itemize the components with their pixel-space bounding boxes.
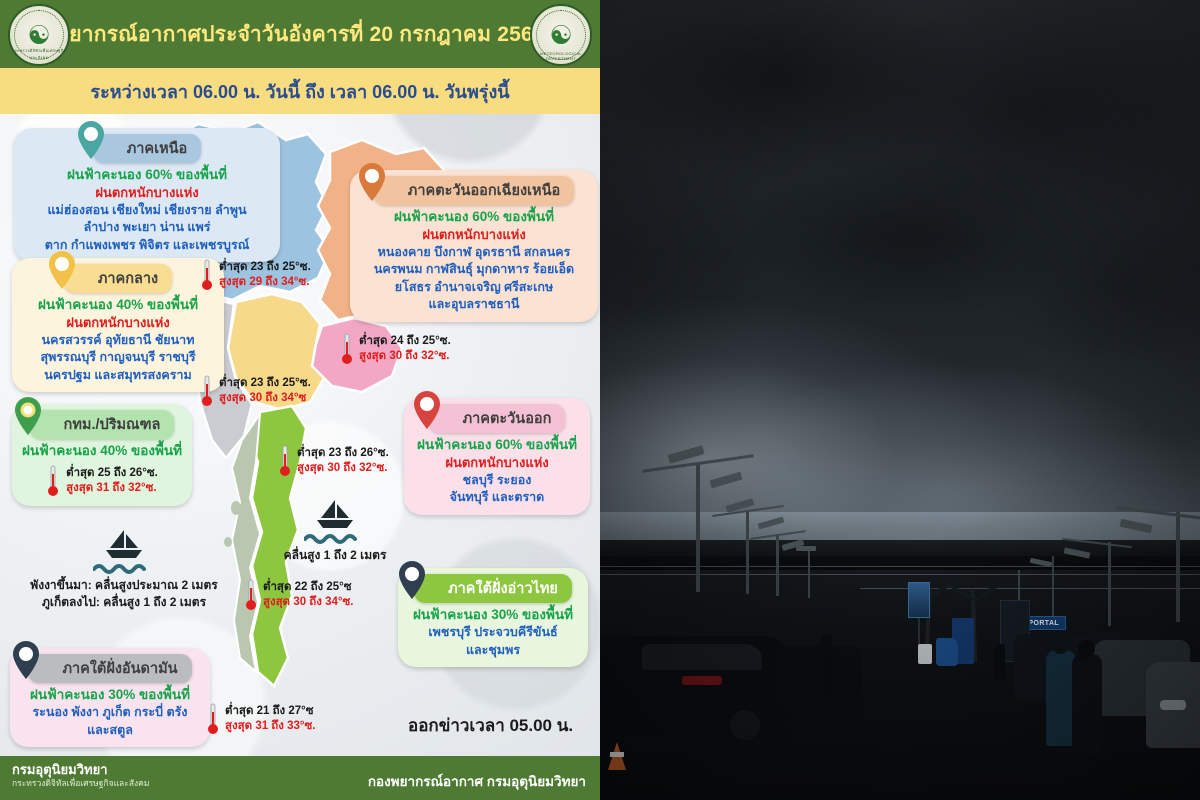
weather-forecast-infographic: ☯ กระทรวงดิจิทัลเพื่อเศรษฐกิจและสังคม พย… bbox=[0, 0, 600, 800]
blue-tarp bbox=[936, 638, 958, 666]
bangkok-temperature: ต่ำสุด 25 ถึง 26°ซ. สูงสุด 31 ถึง 32°ซ. bbox=[66, 466, 158, 496]
storm-photo: THE PORTAL bbox=[600, 0, 1200, 800]
temp-min: ต่ำสุด 23 ถึง 26°ซ. bbox=[297, 446, 389, 461]
car-wheel bbox=[730, 710, 760, 740]
thermometer-icon bbox=[200, 374, 214, 408]
region-percent: ฝนฟ้าคะนอง 40% ของพื้นที่ bbox=[22, 442, 182, 460]
thermometer-icon bbox=[206, 702, 220, 736]
region-title: ภาคใต้ฝั่งอันดามัน bbox=[62, 661, 177, 677]
tmd-seal-caption: METEOROLOGICAL DEPARTMENT bbox=[532, 51, 590, 61]
palm-tree-fronds bbox=[942, 578, 1008, 610]
seal-glyph: ☯ bbox=[549, 22, 572, 48]
region-provinces-line: ชลบุรี ระยอง bbox=[414, 472, 580, 490]
street-lamp-pole bbox=[1176, 512, 1180, 622]
region-card-gulf[interactable]: ภาคใต้ฝั่งอ่าวไทย ฝนฟ้าคะนอง 30% ของพื้น… bbox=[398, 568, 588, 667]
region-percent: ฝนฟ้าคะนอง 60% ของพื้นที่ bbox=[360, 208, 588, 226]
tmd-seal-icon: ☯ METEOROLOGICAL DEPARTMENT bbox=[530, 4, 592, 66]
street-lamp-pole bbox=[746, 510, 749, 594]
footer-department: กองพยากรณ์อากาศ กรมอุตุนิยมวิทยา bbox=[368, 770, 586, 792]
region-card-north[interactable]: ภาคเหนือ ฝนฟ้าคะนอง 60% ของพื้นที่ ฝนตกห… bbox=[14, 128, 280, 262]
temp-min: ต่ำสุด 25 ถึง 26°ซ. bbox=[66, 466, 158, 481]
region-card-northeast[interactable]: ภาคตะวันออกเฉียงเหนือ ฝนฟ้าคะนอง 60% ของ… bbox=[350, 170, 598, 322]
page-title: พยากรณ์อากาศประจำวันอังคารที่ 20 กรกฎาคม… bbox=[55, 18, 545, 51]
car-window bbox=[642, 644, 762, 670]
temp-max: สูงสุด 30 ถึง 34°ซ. bbox=[263, 595, 353, 610]
temp-max: สูงสุด 31 ถึง 33°ซ. bbox=[225, 719, 315, 734]
sea-condition-line: พังงาขึ้นมา: คลื่นสูงประมาณ 2 เมตร bbox=[4, 577, 244, 594]
region-provinces-line: นครปฐม และสมุทรสงคราม bbox=[22, 367, 214, 385]
temp-min: ต่ำสุด 24 ถึง 25°ซ. bbox=[359, 334, 451, 349]
region-provinces-line: นครพนม กาฬสินธุ์ มุกดาหาร ร้อยเอ็ด bbox=[360, 261, 588, 279]
subtitle-band: ระหว่างเวลา 06.00 น. วันนี้ ถึง เวลา 06.… bbox=[0, 68, 600, 114]
billboard bbox=[908, 582, 930, 618]
sailboat-icon bbox=[102, 528, 146, 562]
sea-condition-gulf: คลื่นสูง 1 ถึง 2 เมตร bbox=[250, 498, 420, 564]
region-percent: ฝนฟ้าคะนอง 30% ของพื้นที่ bbox=[408, 606, 578, 624]
map-pin-icon bbox=[14, 397, 42, 435]
region-tab-northeast: ภาคตะวันออกเฉียงเหนือ bbox=[374, 176, 574, 205]
thermometer-icon bbox=[244, 578, 258, 612]
seal-glyph: ☯ bbox=[27, 22, 50, 48]
map-pin-icon bbox=[358, 163, 386, 201]
footer-left-group: กรมอุตุนิยมวิทยา กระทรวงดิจิทัลเพื่อเศรษ… bbox=[12, 762, 149, 789]
temp-max: สูงสุด 30 ถึง 32°ซ. bbox=[359, 349, 451, 364]
street-lamp-pole bbox=[1052, 556, 1054, 618]
thermometer-icon bbox=[340, 332, 354, 366]
person-head bbox=[1052, 636, 1069, 654]
region-heavy-rain: ฝนตกหนักบางแห่ง bbox=[414, 454, 580, 472]
region-provinces-line: จันทบุรี และตราด bbox=[414, 489, 580, 507]
region-card-andaman[interactable]: ภาคใต้ฝั่งอันดามัน ฝนฟ้าคะนอง 30% ของพื้… bbox=[10, 648, 210, 747]
region-provinces-line: เพชรบุรี ประจวบคีรีขันธ์ bbox=[408, 624, 578, 642]
car-headlight bbox=[1160, 700, 1186, 710]
map-pin-icon bbox=[398, 561, 426, 599]
region-heavy-rain: ฝนตกหนักบางแห่ง bbox=[360, 226, 588, 244]
region-provinces-line: ลำปาง พะเยา น่าน แพร่ bbox=[24, 219, 270, 237]
person-head bbox=[1078, 640, 1095, 658]
cloud-mass bbox=[600, 0, 1200, 560]
temp-min: ต่ำสุด 23 ถึง 25°ซ. bbox=[219, 260, 311, 275]
screenshot-root: ☯ กระทรวงดิจิทัลเพื่อเศรษฐกิจและสังคม พย… bbox=[0, 0, 1200, 800]
temp-max: สูงสุด 29 ถึง 34°ซ. bbox=[219, 275, 311, 290]
region-provinces-line: แม่ฮ่องสอน เชียงใหม่ เชียงราย ลำพูน bbox=[24, 202, 270, 220]
region-tab-gulf: ภาคใต้ฝั่งอ่าวไทย bbox=[414, 574, 572, 603]
map-island-1 bbox=[231, 501, 241, 515]
thermometer-icon bbox=[278, 444, 292, 478]
region-title: ภาคตะวันออกเฉียงเหนือ bbox=[408, 183, 560, 199]
temperature-east: ต่ำสุด 23 ถึง 26°ซ. สูงสุด 30 ถึง 32°ซ. bbox=[278, 444, 389, 478]
ministry-seal-icon: ☯ กระทรวงดิจิทัลเพื่อเศรษฐกิจและสังคม bbox=[8, 4, 70, 66]
temp-min: ต่ำสุด 22 ถึง 25°ซ bbox=[263, 580, 353, 595]
region-percent: ฝนฟ้าคะนอง 40% ของพื้นที่ bbox=[22, 296, 214, 314]
sea-condition-andaman: พังงาขึ้นมา: คลื่นสูงประมาณ 2 เมตร ภูเก็… bbox=[4, 528, 244, 612]
map-pin-icon bbox=[413, 391, 441, 429]
region-percent: ฝนฟ้าคะนอง 60% ของพื้นที่ bbox=[24, 166, 270, 184]
region-provinces-line: สุพรรณบุรี กาญจนบุรี ราชบุรี bbox=[22, 349, 214, 367]
map-pin-icon bbox=[77, 121, 105, 159]
map-pin-icon bbox=[12, 641, 40, 679]
person-silhouette bbox=[818, 642, 834, 702]
region-card-central[interactable]: ภาคกลาง ฝนฟ้าคะนอง 40% ของพื้นที่ ฝนตกหน… bbox=[12, 258, 224, 392]
wave-icon bbox=[304, 532, 366, 544]
thermometer-icon bbox=[200, 258, 214, 292]
temp-max: สูงสุด 31 ถึง 32°ซ. bbox=[66, 481, 158, 496]
region-provinces-line: หนองคาย บึงกาฬ อุดรธานี สกลนคร bbox=[360, 244, 588, 262]
region-provinces-line: และสตูล bbox=[20, 722, 200, 740]
footer-ministry: กระทรวงดิจิทัลเพื่อเศรษฐกิจและสังคม bbox=[12, 778, 149, 789]
street-lamp-pole bbox=[808, 548, 810, 598]
sailboat-icon bbox=[313, 498, 357, 532]
footer-organization: กรมอุตุนิยมวิทยา bbox=[12, 762, 149, 778]
map-pin-icon bbox=[48, 251, 76, 289]
region-percent: ฝนฟ้าคะนอง 30% ของพื้นที่ bbox=[20, 686, 200, 704]
region-heavy-rain: ฝนตกหนักบางแห่ง bbox=[22, 314, 214, 332]
temperature-northeast: ต่ำสุด 24 ถึง 25°ซ. สูงสุด 30 ถึง 32°ซ. bbox=[340, 332, 451, 366]
release-time: ออกข่าวเวลา 05.00 น. bbox=[408, 712, 573, 739]
region-provinces-line: ระนอง พังงา ภูเก็ต กระบี่ ตรัง bbox=[20, 704, 200, 722]
region-tab-central: ภาคกลาง bbox=[64, 264, 172, 293]
temperature-gulf: ต่ำสุด 22 ถึง 25°ซ สูงสุด 30 ถึง 34°ซ. bbox=[244, 578, 353, 612]
storm-sky bbox=[600, 0, 1200, 560]
region-title: ภาคตะวันออก bbox=[463, 411, 552, 427]
person-silhouette bbox=[1072, 654, 1102, 754]
wave-icon bbox=[93, 562, 155, 574]
region-provinces-line: และอุบลราชธานี bbox=[360, 296, 588, 314]
forecast-period-text: ระหว่างเวลา 06.00 น. วันนี้ ถึง เวลา 06.… bbox=[90, 77, 509, 106]
region-percent: ฝนฟ้าคะนอง 60% ของพื้นที่ bbox=[414, 436, 580, 454]
sea-condition-line: ภูเก็ตลงไป: คลื่นสูง 1 ถึง 2 เมตร bbox=[4, 594, 244, 611]
white-plastic-chair bbox=[918, 644, 932, 664]
traffic-cone-band bbox=[610, 752, 624, 757]
street-lamp-pole bbox=[776, 534, 779, 596]
thermometer-icon bbox=[46, 464, 60, 498]
person-head bbox=[821, 634, 832, 646]
person-silhouette bbox=[994, 644, 1005, 682]
ministry-seal-caption: กระทรวงดิจิทัลเพื่อเศรษฐกิจและสังคม bbox=[10, 47, 68, 61]
region-tab-east: ภาคตะวันออก bbox=[429, 404, 566, 433]
temp-min: ต่ำสุด 21 ถึง 27°ซ bbox=[225, 704, 315, 719]
billboard-post bbox=[918, 618, 920, 644]
region-card-bangkok[interactable]: กทม./ปริมณฑล ฝนฟ้าคะนอง 40% ของพื้นที่ ต… bbox=[12, 404, 192, 506]
region-title: ภาคกลาง bbox=[98, 271, 158, 287]
header-bar: ☯ กระทรวงดิจิทัลเพื่อเศรษฐกิจและสังคม พย… bbox=[0, 0, 600, 68]
sea-condition-line: คลื่นสูง 1 ถึง 2 เมตร bbox=[250, 547, 420, 564]
temperature-andaman: ต่ำสุด 21 ถึง 27°ซ สูงสุด 31 ถึง 33°ซ. bbox=[206, 702, 315, 736]
temp-max: สูงสุด 30 ถึง 32°ซ. bbox=[297, 461, 389, 476]
region-heavy-rain: ฝนตกหนักบางแห่ง bbox=[24, 184, 270, 202]
temperature-central: ต่ำสุด 23 ถึง 25°ซ. สูงสุด 30 ถึง 34°ซ bbox=[200, 374, 311, 408]
region-provinces-line: ยโสธร อำนาจเจริญ ศรีสะเกษ bbox=[360, 279, 588, 297]
region-title: ภาคเหนือ bbox=[127, 141, 188, 157]
region-title: ภาคใต้ฝั่งอ่าวไทย bbox=[448, 581, 558, 597]
street-lamp-pole bbox=[696, 462, 700, 592]
footer-bar: กรมอุตุนิยมวิทยา กระทรวงดิจิทัลเพื่อเศรษ… bbox=[0, 756, 600, 800]
temp-max: สูงสุด 30 ถึง 34°ซ bbox=[219, 391, 311, 406]
region-tab-andaman: ภาคใต้ฝั่งอันดามัน bbox=[28, 654, 191, 683]
region-card-east[interactable]: ภาคตะวันออก ฝนฟ้าคะนอง 60% ของพื้นที่ ฝน… bbox=[404, 398, 590, 515]
region-title: กทม./ปริมณฑล bbox=[64, 417, 161, 433]
street-lamp-head bbox=[796, 546, 816, 551]
temp-min: ต่ำสุด 23 ถึง 25°ซ. bbox=[219, 376, 311, 391]
temperature-north: ต่ำสุด 23 ถึง 25°ซ. สูงสุด 29 ถึง 34°ซ. bbox=[200, 258, 311, 292]
region-tab-bangkok: กทม./ปริมณฑล bbox=[30, 410, 175, 439]
car-tail-light bbox=[682, 676, 722, 685]
street-lamp-pole bbox=[1108, 542, 1111, 626]
region-provinces-line: นครสวรรค์ อุทัยธานี ชัยนาท bbox=[22, 332, 214, 350]
region-provinces-line: และชุมพร bbox=[408, 642, 578, 660]
region-tab-north: ภาคเหนือ bbox=[93, 134, 202, 163]
